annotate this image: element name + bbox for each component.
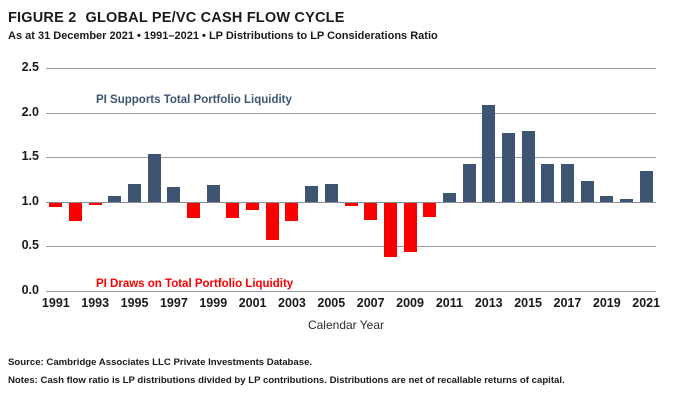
bar-2002 <box>266 202 279 240</box>
bar-1998 <box>187 202 200 218</box>
page-title: FIGURE 2GLOBAL PE/VC CASH FLOW CYCLE <box>8 10 345 26</box>
y-tick-label: 1.5 <box>3 150 39 163</box>
annotation-supports: PI Supports Total Portfolio Liquidity <box>96 94 292 106</box>
bar-2009 <box>404 202 417 252</box>
bar-2021 <box>640 171 653 201</box>
bar-2018 <box>581 181 594 202</box>
x-tick-label-2021: 2021 <box>626 297 666 310</box>
bar-2000 <box>226 202 239 218</box>
y-tick-label: 2.0 <box>3 106 39 119</box>
x-tick-label-1995: 1995 <box>115 297 155 310</box>
chart-container: PI Supports Total Portfolio Liquidity PI… <box>0 52 692 342</box>
bar-2004 <box>305 186 318 202</box>
methodology-note: Notes: Cash flow ratio is LP distributio… <box>8 375 565 386</box>
x-tick-label-1997: 1997 <box>154 297 194 310</box>
bar-2016 <box>541 164 554 201</box>
x-tick-label-2011: 2011 <box>429 297 469 310</box>
x-tick-label-2001: 2001 <box>233 297 273 310</box>
x-tick-label-2019: 2019 <box>587 297 627 310</box>
bar-1999 <box>207 185 220 202</box>
bar-2008 <box>384 202 397 257</box>
x-tick-label-1991: 1991 <box>36 297 76 310</box>
plot-area: PI Supports Total Portfolio Liquidity PI… <box>46 68 656 291</box>
bar-2010 <box>423 202 436 217</box>
source-note: Source: Cambridge Associates LLC Private… <box>8 357 312 368</box>
bar-1992 <box>69 202 82 222</box>
bar-2012 <box>463 164 476 201</box>
figure-title: GLOBAL PE/VC CASH FLOW CYCLE <box>85 10 344 26</box>
x-axis-ticks: 1991199319951997199920012003200520072009… <box>46 297 656 315</box>
bar-2003 <box>285 202 298 221</box>
figure-label: FIGURE 2 <box>8 10 76 26</box>
x-tick-label-2009: 2009 <box>390 297 430 310</box>
figure-subtitle: As at 31 December 2021 • 1991–2021 • LP … <box>8 30 438 42</box>
y-tick-label: 0.5 <box>3 239 39 252</box>
y-tick-label: 0.0 <box>3 284 39 297</box>
x-tick-label-1999: 1999 <box>193 297 233 310</box>
bar-1995 <box>128 184 141 202</box>
bar-2015 <box>522 131 535 201</box>
bar-2005 <box>325 184 338 202</box>
x-tick-label-2005: 2005 <box>311 297 351 310</box>
bar-1997 <box>167 187 180 202</box>
annotation-draws: PI Draws on Total Portfolio Liquidity <box>96 278 293 290</box>
x-axis-title: Calendar Year <box>0 318 692 332</box>
bar-2014 <box>502 133 515 202</box>
x-tick-label-1993: 1993 <box>75 297 115 310</box>
gridline-1.0 <box>46 202 656 204</box>
bar-2011 <box>443 193 456 202</box>
y-tick-label: 2.5 <box>3 61 39 74</box>
x-tick-label-2015: 2015 <box>508 297 548 310</box>
bar-2013 <box>482 105 495 202</box>
bar-2017 <box>561 164 574 201</box>
y-tick-label: 1.0 <box>3 195 39 208</box>
x-tick-label-2017: 2017 <box>547 297 587 310</box>
x-tick-label-2013: 2013 <box>469 297 509 310</box>
x-tick-label-2003: 2003 <box>272 297 312 310</box>
x-tick-label-2007: 2007 <box>351 297 391 310</box>
gridline-0.0 <box>46 291 656 292</box>
bar-2007 <box>364 202 377 220</box>
bar-1996 <box>148 154 161 202</box>
figure-page: FIGURE 2GLOBAL PE/VC CASH FLOW CYCLE As … <box>0 0 692 403</box>
